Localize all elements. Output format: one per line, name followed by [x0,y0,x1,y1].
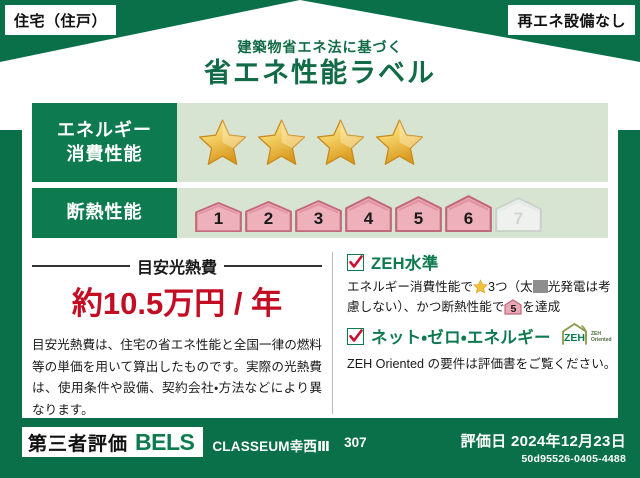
label-title: 省エネ性能ラベル [0,57,640,91]
inline-star-icon [473,279,488,294]
insulation-level-chips: 1234567 [195,195,542,232]
insulation-performance-value: 1234567 [177,188,608,238]
zeh-standard-body: エネルギー消費性能で 3つ（太光発電は考慮しない）、かつ断熱性能で 5 を達成 [347,277,618,318]
zeh-standard-heading: ZEH水準 [347,250,618,274]
insulation-level-chip-number: 6 [445,209,492,229]
energy-performance-label-line1: エネルギー [57,119,152,142]
bels-logo-text: BELS [135,429,194,456]
insulation-level-chip: 2 [245,201,292,232]
insulation-performance-label-text: 断熱性能 [67,201,143,224]
energy-performance-label: 住宅（住戸） 再エネ設備なし 建築物省エネ法に基づく 省エネ性能ラベル エネルギ… [0,0,640,478]
insulation-level-chip-number: 4 [345,209,392,229]
zeh-standard-body-part2: 3つ（太 [488,280,533,294]
certification-panel: ZEH水準 エネルギー消費性能で 3つ（太光発電は考慮しない）、かつ断熱性能で … [333,250,618,420]
label-title-block: 建築物省エネ法に基づく 省エネ性能ラベル [0,40,640,91]
label-card: エネルギー 消費性能 断熱性能 1234567 目安光熱費 [22,96,618,418]
third-party-eval-text: 第三者評価 [28,429,128,456]
lower-section: 目安光熱費 約10.5万円 / 年 目安光熱費は、住宅の省エネ性能と全国一律の燃… [32,250,608,420]
unit-number: 307 [344,435,367,450]
inline-insulation-chip: 5 [504,299,522,315]
insulation-level-chip-number: 5 [395,209,442,229]
bels-badge: 第三者評価 BELS [22,427,203,457]
net-zero-energy-checkbox[interactable] [347,328,364,345]
energy-performance-value [177,103,608,182]
evaluation-id: 50d95526-0405-4488 [461,453,626,465]
energy-performance-row: エネルギー 消費性能 [32,103,608,182]
zeh-standard-body-part4: を達成 [522,300,560,314]
zeh-oriented-logo-icon: ZEH ZEH Oriented [560,322,618,351]
label-footer: 第三者評価 BELS CLASSEUM幸西Ⅲ 307 評価日 2024年12月2… [0,424,640,478]
svg-text:ZEH: ZEH [564,332,585,344]
energy-cost-amount: 約10.5万円 / 年 [32,287,322,321]
insulation-level-chip: 5 [395,196,442,232]
insulation-level-chip: 6 [445,195,492,232]
insulation-performance-label: 断熱性能 [32,188,177,238]
energy-performance-label: エネルギー 消費性能 [32,103,177,182]
svg-text:Oriented: Oriented [591,337,612,343]
insulation-level-chip: 3 [295,200,342,232]
evaluation-info: 評価日 2024年12月23日 50d95526-0405-4488 [461,430,626,465]
zeh-standard-body-part1: エネルギー消費性能で [347,280,473,294]
insulation-level-chip: 4 [345,196,392,232]
badge-renewable-equipment: 再エネ設備なし [508,5,635,35]
insulation-level-chip: 7 [495,197,542,232]
insulation-level-chip-number: 7 [495,209,542,229]
redacted-mark [533,280,548,293]
inline-insulation-chip-num: 5 [504,303,522,315]
star-icon [313,115,368,170]
net-zero-energy-title: ネット・ゼロ・エネルギー [371,324,551,348]
star-icon [195,115,250,170]
net-zero-energy-body: ZEH Oriented の要件は評価書をご覧ください。 [347,354,618,374]
star-icon [372,115,427,170]
badge-housing-type: 住宅（住戸） [5,5,116,35]
insulation-level-chip: 1 [195,202,242,232]
energy-performance-label-line2: 消費性能 [67,143,143,166]
zeh-standard-title: ZEH水準 [371,250,439,274]
insulation-level-chip-number: 3 [295,209,342,229]
insulation-level-chip-number: 2 [245,209,292,229]
zeh-standard-checkbox[interactable] [347,254,364,271]
net-zero-energy-block: ネット・ゼロ・エネルギー ZEH ZEH Oriented ZEH Orient… [347,322,618,374]
energy-cost-note: 目安光熱費は、住宅の省エネ性能と全国一律の燃料等の単価を用いて算出したものです。… [32,335,322,422]
energy-cost-panel: 目安光熱費 約10.5万円 / 年 目安光熱費は、住宅の省エネ性能と全国一律の燃… [32,250,332,420]
heading-rule-left [32,265,130,267]
net-zero-energy-heading: ネット・ゼロ・エネルギー ZEH ZEH Oriented [347,322,618,351]
star-icon [254,115,309,170]
star-rating [195,115,427,170]
zeh-standard-block: ZEH水準 エネルギー消費性能で 3つ（太光発電は考慮しない）、かつ断熱性能で … [347,250,618,318]
energy-cost-heading-text: 目安光熱費 [137,254,217,278]
evaluation-date: 評価日 2024年12月23日 [461,430,626,451]
label-subtitle: 建築物省エネ法に基づく [0,40,640,55]
energy-cost-heading: 目安光熱費 [32,254,322,278]
building-name: CLASSEUM幸西Ⅲ [212,435,330,455]
insulation-level-chip-number: 1 [195,209,242,229]
heading-rule-right [224,265,322,267]
insulation-performance-row: 断熱性能 1234567 [32,188,608,238]
